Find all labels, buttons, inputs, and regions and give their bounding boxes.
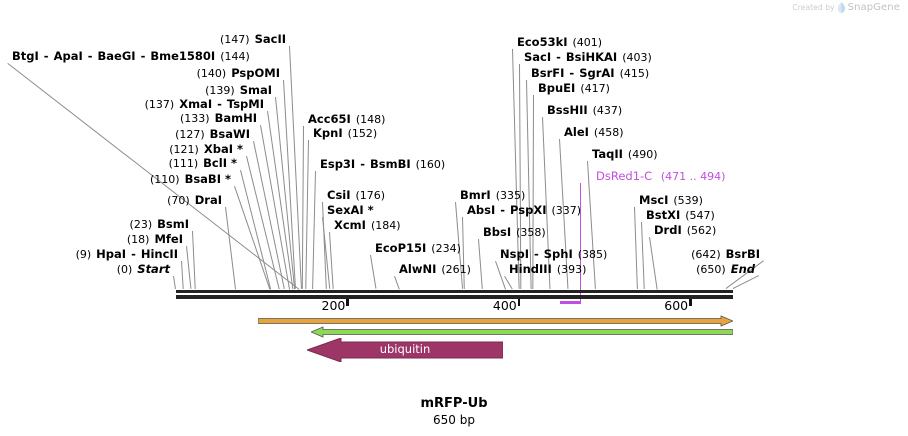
enzyme-position: (539) (673, 194, 703, 207)
enzyme-label-drdi[interactable]: DrdI(562) (654, 224, 716, 237)
enzyme-position: (148) (356, 113, 386, 126)
sequence-length: 650 bp (0, 413, 908, 427)
enzyme-name: ApaI (54, 49, 83, 63)
enzyme-label-bpuei[interactable]: BpuEI(417) (538, 82, 610, 95)
enzyme-label-bsabi[interactable]: (110)BsaBI * (0, 173, 231, 186)
enzyme-name: BsmBI (370, 157, 411, 171)
primer-bar-dsred1-c[interactable] (560, 301, 581, 304)
enzyme-position: (144) (220, 50, 250, 63)
enzyme-position: (139) (205, 84, 235, 97)
enzyme-label-absi[interactable]: AbsI-PspXI(337) (467, 204, 581, 217)
enzyme-name: TaqII (592, 147, 623, 161)
map-title-block: mRFP-Ub 650 bp (0, 396, 908, 427)
watermark-created-by-label: Created by (792, 3, 834, 12)
enzyme-name: SexAI * (327, 203, 374, 217)
enzyme-label-end[interactable]: (650)End (0, 263, 755, 276)
enzyme-position: (642) (691, 248, 721, 261)
enzyme-position: (137) (145, 98, 175, 111)
enzyme-label-alei[interactable]: AleI(458) (564, 126, 624, 139)
orf-arrow-ubiquitin[interactable]: ubiquitin (307, 338, 503, 362)
enzyme-separator: - (569, 66, 574, 80)
enzyme-name: Acc65I (308, 112, 351, 126)
enzyme-position: (401) (573, 36, 603, 49)
enzyme-name: BsiHKAI (566, 50, 617, 64)
enzyme-position: (160) (416, 158, 446, 171)
enzyme-label-pspomi[interactable]: (140)PspOMI (0, 67, 280, 80)
ruler-bar (176, 290, 733, 293)
enzyme-label-bstxi[interactable]: BstXI(547) (646, 209, 715, 222)
enzyme-label-bamhi[interactable]: (133)BamHI (0, 112, 257, 125)
enzyme-label-mfei[interactable]: (18)MfeI (0, 233, 183, 246)
orf-arrow-green[interactable] (311, 326, 733, 338)
enzyme-label-xbai[interactable]: (121)XbaI * (0, 143, 243, 156)
orf-arrow-label: ubiquitin (307, 342, 503, 356)
enzyme-position: (121) (169, 143, 199, 156)
enzyme-name: BamHI (215, 111, 257, 125)
enzyme-position: (176) (356, 189, 386, 202)
snapgene-logo-icon (838, 2, 845, 13)
feature-label-dsred1-c[interactable]: DsRed1-C (471 .. 494) (596, 170, 725, 183)
enzyme-name: SacII (255, 32, 286, 46)
enzyme-label-bsmi[interactable]: (23)BsmI (0, 218, 189, 231)
enzyme-name: XcmI (334, 218, 366, 232)
enzyme-label-sexai[interactable]: SexAI * (327, 204, 374, 216)
enzyme-name: SacI (524, 50, 551, 64)
enzyme-position: (70) (167, 194, 190, 207)
leader-line (394, 276, 400, 289)
enzyme-separator: - (500, 203, 505, 217)
enzyme-label-bbsi[interactable]: BbsI(358) (483, 226, 546, 239)
enzyme-name: BsrFI (531, 66, 564, 80)
enzyme-position: (458) (594, 126, 624, 139)
enzyme-name: End (731, 262, 755, 276)
feature-range: (471 .. 494) (661, 170, 726, 183)
enzyme-position: (415) (620, 67, 650, 80)
enzyme-position: (147) (220, 33, 250, 46)
enzyme-name: SmaI (240, 83, 272, 97)
enzyme-position: (335) (496, 189, 526, 202)
enzyme-label-esp3i[interactable]: Esp3I-BsmBI(160) (320, 158, 445, 171)
enzyme-name: BssHII (547, 103, 588, 117)
enzyme-label-taqii[interactable]: TaqII(490) (592, 148, 658, 161)
enzyme-name: Eco53kI (517, 35, 568, 49)
enzyme-position: (417) (580, 82, 610, 95)
leader-line (173, 276, 176, 289)
enzyme-name: Esp3I (320, 157, 355, 171)
enzyme-position: (152) (348, 127, 378, 140)
enzyme-name: XbaI * (204, 142, 243, 156)
enzyme-name: PspOMI (231, 66, 280, 80)
enzyme-separator: - (88, 49, 93, 63)
enzyme-position: (403) (622, 51, 652, 64)
enzyme-label-bsshii[interactable]: BssHII(437) (547, 104, 622, 117)
sequence-name: mRFP-Ub (0, 396, 908, 411)
enzyme-label-acc65i[interactable]: Acc65I(148) (308, 113, 385, 126)
enzyme-name: AleI (564, 125, 589, 139)
enzyme-position: (140) (197, 67, 227, 80)
enzyme-label-kpni[interactable]: KpnI(152) (313, 127, 377, 140)
enzyme-label-saci[interactable]: SacI-BsiHKAI(403) (524, 51, 652, 64)
enzyme-label-btgi_group[interactable]: BtgI-ApaI-BaeGI-Bme1580I(144) (12, 50, 250, 63)
enzyme-name: DraI (195, 193, 222, 207)
enzyme-label-bmri[interactable]: BmrI(335) (460, 189, 525, 202)
enzyme-label-msci[interactable]: MscI(539) (639, 194, 703, 207)
enzyme-name: TspMI (227, 97, 264, 111)
enzyme-name: KpnI (313, 126, 343, 140)
enzyme-name: BsaWI (210, 127, 250, 141)
enzyme-name: BsrBI (726, 247, 760, 261)
enzyme-label-smai[interactable]: (139)SmaI (0, 84, 272, 97)
enzyme-name: BtgI (12, 49, 39, 63)
watermark-brand-label: SnapGene (848, 2, 900, 13)
enzyme-name: MfeI (154, 232, 183, 246)
snapgene-watermark: Created by SnapGene (792, 2, 900, 13)
enzyme-name: BsaBI * (185, 172, 231, 186)
enzyme-position: (562) (687, 224, 717, 237)
enzyme-label-bsrbi[interactable]: (642)BsrBI (0, 248, 760, 261)
enzyme-position: (337) (552, 204, 582, 217)
ruler-tick-label: 400 (479, 298, 517, 313)
enzyme-separator: - (141, 49, 146, 63)
enzyme-label-sacii[interactable]: (147)SacII (0, 33, 286, 46)
enzyme-name: CsiI (327, 188, 351, 202)
enzyme-position: (23) (130, 218, 153, 231)
enzyme-separator: - (44, 49, 49, 63)
enzyme-label-eco53ki[interactable]: Eco53kI(401) (517, 36, 602, 49)
enzyme-name: BbsI (483, 225, 511, 239)
enzyme-position: (184) (371, 219, 401, 232)
ruler-tick-label: 600 (650, 298, 688, 313)
ruler-tick-mark (346, 299, 349, 306)
enzyme-name: BaeGI (98, 49, 136, 63)
enzyme-label-drai[interactable]: (70)DraI (0, 194, 222, 207)
enzyme-position: (490) (628, 148, 658, 161)
enzyme-name: BstXI (646, 208, 680, 222)
enzyme-separator: - (217, 97, 222, 111)
enzyme-label-xmai_group[interactable]: (137)XmaI-TspMI (0, 98, 264, 111)
enzyme-name: XmaI (179, 97, 212, 111)
enzyme-label-bsawi[interactable]: (127)BsaWI (0, 128, 250, 141)
snapgene-sequence-map: Created by SnapGene (147)SacIIBtgI-ApaI-… (0, 0, 908, 436)
enzyme-position: (358) (516, 226, 546, 239)
leader-line-dsred1-c (580, 183, 582, 303)
enzyme-position: (18) (127, 233, 150, 246)
enzyme-separator: - (556, 50, 561, 64)
enzyme-position: (547) (685, 209, 715, 222)
enzyme-position: (111) (169, 157, 199, 170)
enzyme-name: MscI (639, 193, 668, 207)
enzyme-name: PspXI (510, 203, 546, 217)
enzyme-position: (437) (593, 104, 623, 117)
enzyme-label-bcli[interactable]: (111)BclI * (0, 157, 237, 170)
enzyme-name: BclI * (203, 156, 237, 170)
feature-name: DsRed1-C (596, 169, 652, 183)
enzyme-position: (650) (696, 263, 726, 276)
enzyme-name: AbsI (467, 203, 495, 217)
enzyme-position: (127) (175, 128, 205, 141)
leader-line (733, 275, 759, 289)
enzyme-label-bsrfi[interactable]: BsrFI-SgrAI(415) (531, 67, 649, 80)
enzyme-name: BpuEI (538, 81, 575, 95)
enzyme-position: (110) (150, 173, 180, 186)
enzyme-name: Bme1580I (150, 49, 215, 63)
enzyme-separator: - (360, 157, 365, 171)
enzyme-label-csii[interactable]: CsiI(176) (327, 189, 385, 202)
enzyme-position: (133) (180, 112, 210, 125)
ruler-tick-mark (518, 299, 521, 306)
ruler-tick-mark (689, 299, 692, 306)
enzyme-name: BmrI (460, 188, 491, 202)
enzyme-name: BsmI (157, 217, 189, 231)
enzyme-label-xcmi[interactable]: XcmI(184) (334, 219, 401, 232)
enzyme-name: DrdI (654, 223, 682, 237)
enzyme-name: SgrAI (579, 66, 614, 80)
ruler-tick-label: 200 (307, 298, 345, 313)
